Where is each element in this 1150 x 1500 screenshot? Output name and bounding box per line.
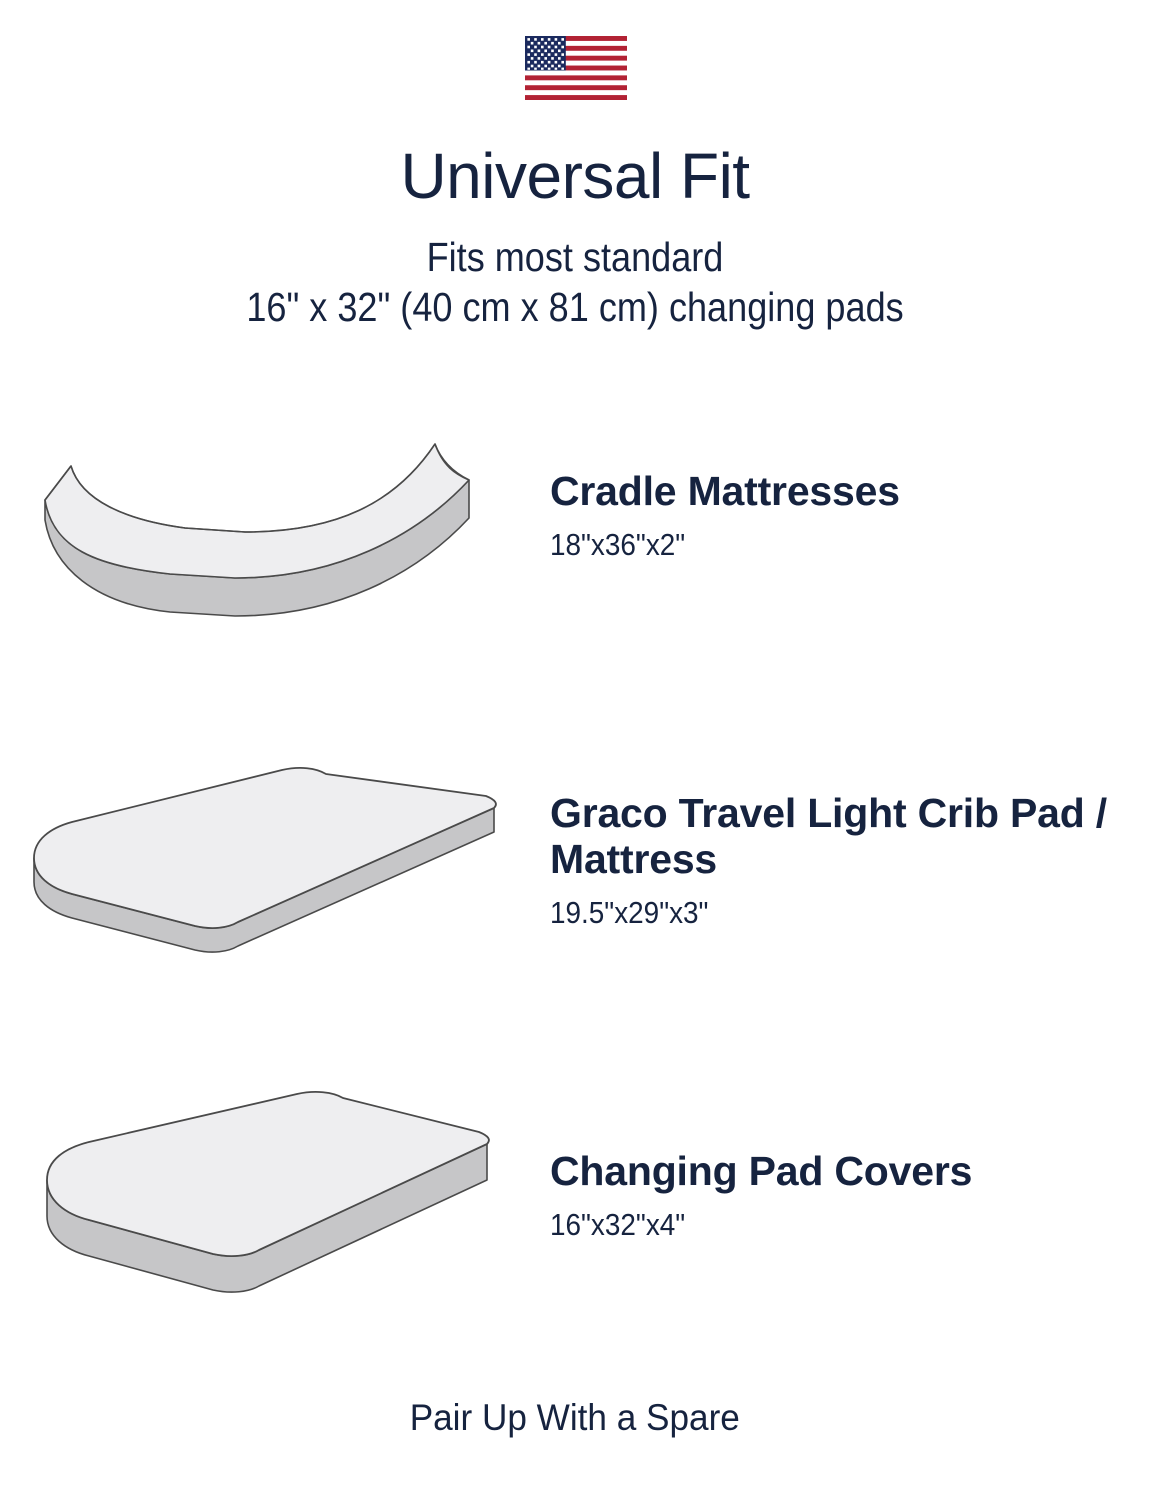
product-dimensions: 18"x36"x2" (550, 528, 1090, 562)
product-infographic-page: Universal Fit Fits most standard 16" x 3… (0, 0, 1150, 1500)
footer-text: Pair Up With a Spare (410, 1398, 740, 1439)
product-labels: Changing Pad Covers 16"x32"x4" (540, 1148, 1150, 1242)
product-labels: Graco Travel Light Crib Pad / Mattress 1… (540, 790, 1150, 931)
product-title: Cradle Mattresses (550, 468, 1150, 514)
page-title: Universal Fit (0, 144, 1150, 208)
page-subtitle: Fits most standard 16" x 32" (40 cm x 81… (69, 208, 1081, 332)
thin-flat-mattress-icon (0, 760, 540, 960)
product-title: Changing Pad Covers (550, 1148, 1150, 1194)
product-row-cradle-mattresses: Cradle Mattresses 18"x36"x2" (0, 400, 1150, 630)
subtitle-line-1: Fits most standard (69, 232, 1081, 282)
product-dimensions: 19.5"x29"x3" (550, 896, 1090, 930)
us-flag-icon (525, 36, 627, 100)
product-row-graco-travel-light: Graco Travel Light Crib Pad / Mattress 1… (0, 745, 1150, 975)
product-row-changing-pad-covers: Changing Pad Covers 16"x32"x4" (0, 1075, 1150, 1315)
thick-flat-mattress-icon (0, 1088, 540, 1303)
product-labels: Cradle Mattresses 18"x36"x2" (540, 468, 1150, 562)
heading-block: Universal Fit Fits most standard 16" x 3… (0, 144, 1150, 332)
product-dimensions: 16"x32"x4" (550, 1208, 1090, 1242)
contoured-changing-pad-icon (0, 408, 540, 623)
product-title: Graco Travel Light Crib Pad / Mattress (550, 790, 1150, 883)
footer-tagline: Pair Up With a Spare (0, 1398, 1150, 1439)
subtitle-line-2: 16" x 32" (40 cm x 81 cm) changing pads (69, 282, 1081, 332)
